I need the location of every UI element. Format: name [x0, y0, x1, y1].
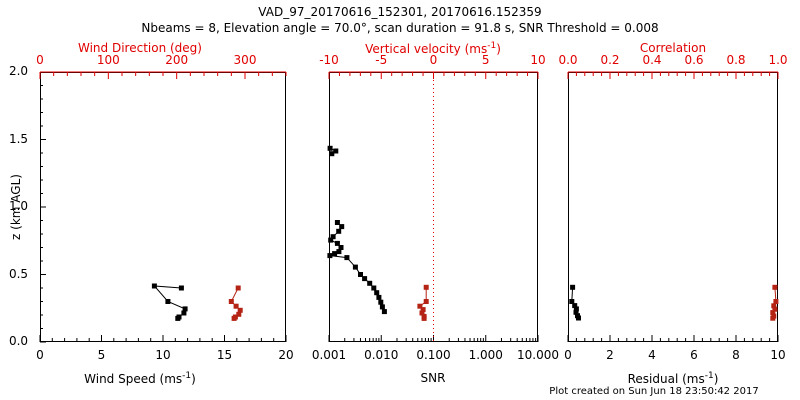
- panel-residual-bottom-tick-5: 10: [748, 348, 800, 362]
- panel-residual-marker: [570, 285, 575, 290]
- panel-residual-top-tick-5: 1.0: [748, 53, 800, 67]
- panel-wind-bottom-tick-3: 15: [195, 348, 255, 362]
- panel-snr-bottom-tick-1: 0.010: [351, 348, 411, 362]
- panel-residual-marker: [576, 316, 581, 321]
- panel-snr-top-tick-2: 0: [404, 53, 464, 67]
- panel-residual-marker: [773, 299, 778, 304]
- y-tick-label-0: 0.0: [0, 334, 37, 348]
- panel-snr-top-tick-1: -5: [351, 53, 411, 67]
- panel-snr-bottom-tick-0: 0.001: [299, 348, 359, 362]
- panel-wind-top-tick-1: 100: [78, 53, 138, 67]
- y-tick-label-2: 1.0: [0, 199, 37, 213]
- panel-snr-top-tick-0: -10: [299, 53, 359, 67]
- plot-root: VAD_97_20170616_152301, 20170616.152359 …: [0, 0, 800, 400]
- panel-wind-top-tick-2: 200: [147, 53, 207, 67]
- panel-snr-bottom-tick-3: 1.000: [456, 348, 516, 362]
- y-tick-label-3: 1.5: [0, 132, 37, 146]
- panel-snr-top-tick-3: 5: [456, 53, 516, 67]
- panel-wind-bottom-tick-1: 5: [72, 348, 132, 362]
- panel-residual-marker: [770, 316, 775, 321]
- panel-residual-marker: [772, 285, 777, 290]
- panel-snr-bottom-tick-2: 0.100: [404, 348, 464, 362]
- y-tick-label-1: 0.5: [0, 267, 37, 281]
- panel-wind-bottom-tick-2: 10: [133, 348, 193, 362]
- panel-wind-bottom-tick-0: 0: [10, 348, 70, 362]
- panel-wind-top-tick-3: 300: [215, 53, 275, 67]
- footer-timestamp: Plot created on Sun Jun 18 23:50:42 2017: [508, 386, 800, 397]
- panel-wind-top-tick-0: 0: [10, 53, 70, 67]
